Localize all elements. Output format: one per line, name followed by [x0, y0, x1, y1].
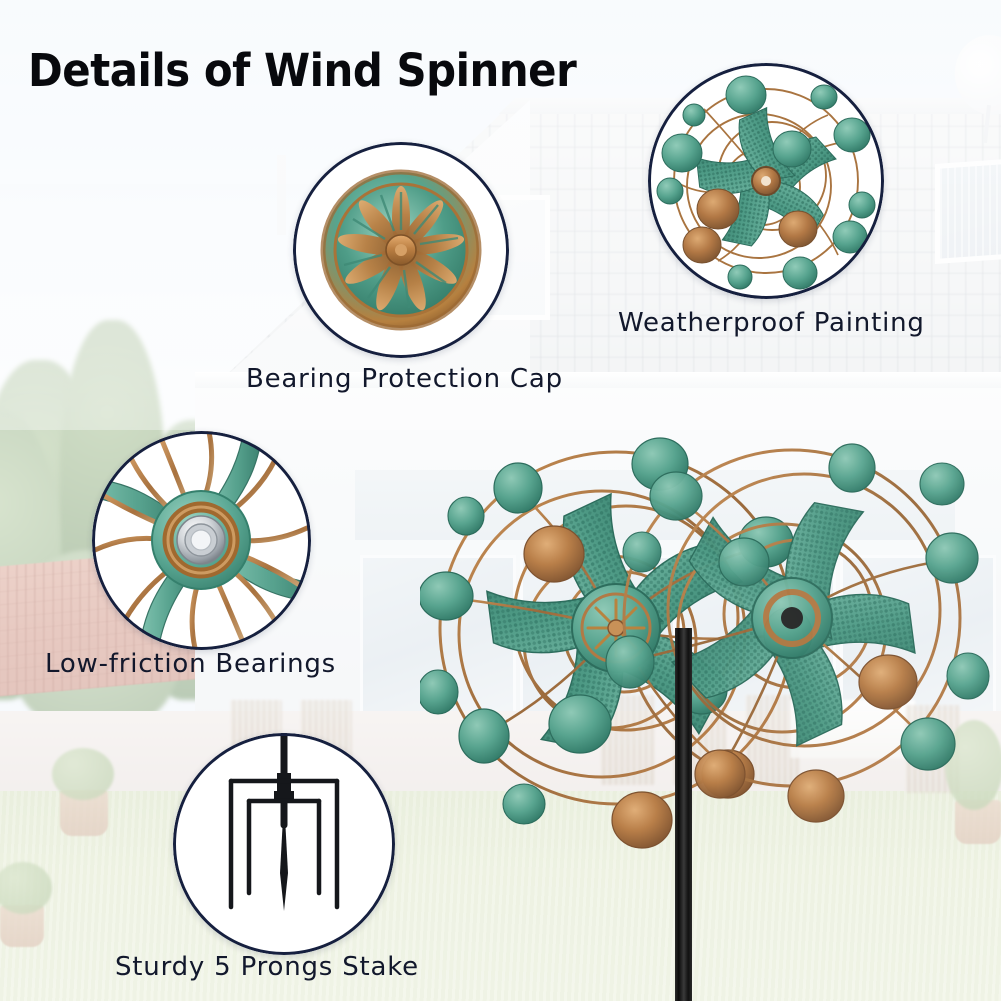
callout-label-weatherproof-painting: Weatherproof Painting — [618, 308, 925, 338]
shrub — [52, 748, 114, 800]
chimney — [277, 155, 286, 235]
infographic-canvas: Details of Wind Spinner Bearing Protecti… — [0, 0, 1001, 1001]
page-title: Details of Wind Spinner — [28, 48, 576, 93]
bearing-cap-medallion-icon — [293, 142, 509, 358]
spinner-rotors-illustration — [420, 360, 1000, 1001]
spinner-pole — [675, 628, 692, 1001]
callout-label-bearing-protection-cap: Bearing Protection Cap — [246, 364, 563, 394]
callout-low-friction-bearings[interactable] — [92, 431, 311, 650]
ball-bearing-hub-icon — [92, 431, 311, 650]
skylight-panel — [935, 156, 1001, 264]
callout-sturdy-5-prongs-stake[interactable] — [173, 733, 395, 955]
callout-bearing-protection-cap[interactable] — [293, 142, 509, 358]
rear-rotor — [606, 444, 989, 822]
callout-weatherproof-painting[interactable] — [648, 63, 884, 299]
callout-label-sturdy-5-prongs-stake: Sturdy 5 Prongs Stake — [115, 952, 419, 982]
spinner-rotor-face-icon — [648, 63, 884, 299]
callout-label-low-friction-bearings: Low-friction Bearings — [45, 649, 336, 679]
ground-stake-icon — [173, 733, 395, 955]
wind-spinner-product — [420, 360, 1000, 1001]
